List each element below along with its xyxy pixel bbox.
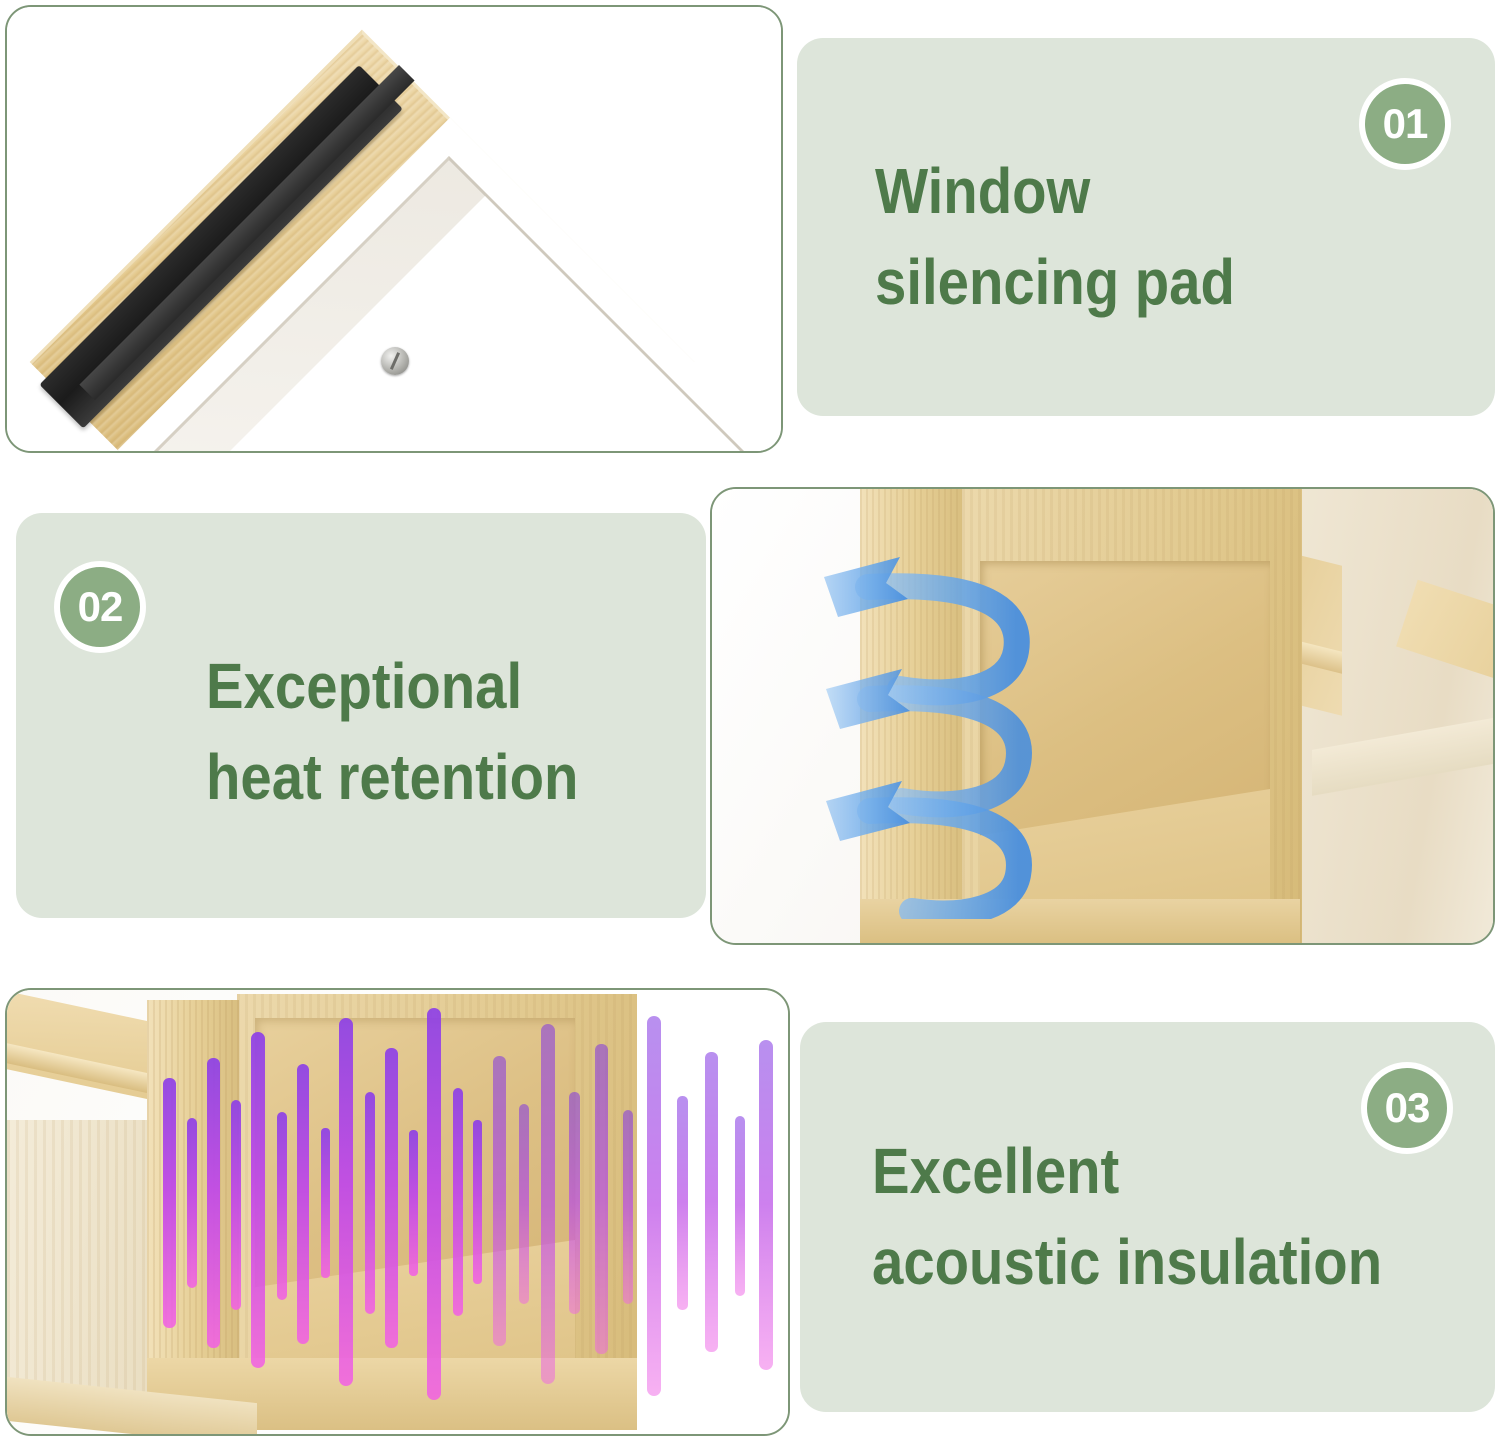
heat-flow-arrows-icon (808, 539, 1168, 919)
feature-title-03: Excellent acoustic insulation (872, 1126, 1435, 1308)
sound-waveform-icon (157, 1000, 787, 1420)
feature-info-card-01: 01 Window silencing pad (797, 38, 1495, 416)
step-badge-02: 02 (54, 561, 146, 653)
screw-icon (381, 347, 409, 375)
feature-info-card-03: 03 Excellent acoustic insulation (800, 1022, 1495, 1412)
feature-infographic-board: 01 Window silencing pad 02 Exceptional h… (0, 0, 1500, 1448)
feature-photo-card-01 (5, 5, 783, 453)
feature-title-01: Window silencing pad (875, 146, 1438, 328)
feature-photo-card-02 (710, 487, 1495, 945)
feature-info-card-02: 02 Exceptional heat retention (16, 513, 706, 918)
feature-title-02: Exceptional heat retention (206, 641, 664, 823)
cabinet-left-face (7, 1120, 157, 1420)
feature-photo-card-03 (5, 988, 790, 1436)
silencing-pad-photo (7, 7, 781, 451)
